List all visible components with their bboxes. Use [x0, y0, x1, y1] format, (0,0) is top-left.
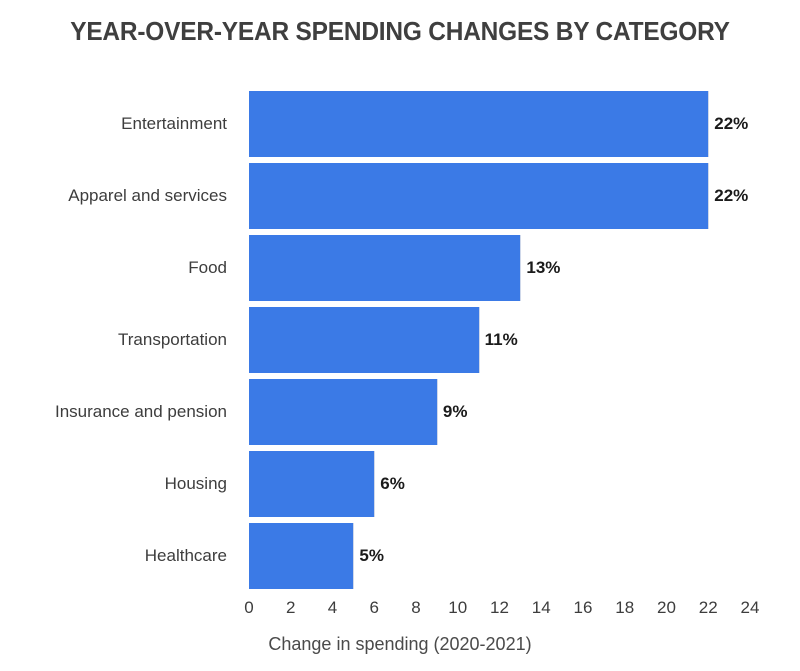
x-axis-tick-9: 18 [615, 598, 634, 618]
bar-value-3: 11% [485, 330, 518, 350]
y-axis-label-3: Transportation [0, 304, 238, 376]
bar-value-6: 5% [359, 546, 384, 566]
bar-4[interactable] [249, 379, 438, 445]
bar-chart: YEAR-OVER-YEAR SPENDING CHANGES BY CATEG… [0, 0, 800, 671]
bar-band-3: 11% [249, 304, 750, 376]
x-axis-tick-0: 0 [244, 598, 253, 618]
y-axis-label-5: Housing [0, 448, 238, 520]
y-axis-label-2: Food [0, 232, 238, 304]
bar-value-2: 13% [526, 258, 560, 278]
plot-area: 22% 22% 13% 11% 9% 6% 5% [249, 88, 750, 592]
x-axis-tick-5: 10 [448, 598, 467, 618]
x-axis-tick-12: 24 [741, 598, 760, 618]
x-axis-tick-7: 14 [532, 598, 551, 618]
bar-band-1: 22% [249, 160, 750, 232]
bar-value-0: 22% [714, 114, 748, 134]
x-axis-tick-4: 8 [411, 598, 420, 618]
bar-value-1: 22% [714, 186, 748, 206]
x-axis-tick-10: 20 [657, 598, 676, 618]
x-axis-title: Change in spending (2020-2021) [0, 634, 800, 655]
y-axis-label-4: Insurance and pension [0, 376, 238, 448]
y-axis-category-labels: Entertainment Apparel and services Food … [0, 88, 238, 592]
bar-band-0: 22% [249, 88, 750, 160]
y-axis-label-1: Apparel and services [0, 160, 238, 232]
bar-value-4: 9% [443, 402, 468, 422]
x-axis-tick-6: 12 [490, 598, 509, 618]
x-axis-tick-1: 2 [286, 598, 295, 618]
bar-3[interactable] [249, 307, 480, 373]
chart-title: YEAR-OVER-YEAR SPENDING CHANGES BY CATEG… [24, 16, 776, 47]
bar-band-2: 13% [249, 232, 750, 304]
y-axis-label-0: Entertainment [0, 88, 238, 160]
x-axis-tick-11: 22 [699, 598, 718, 618]
x-axis-tick-3: 6 [370, 598, 379, 618]
bar-0[interactable] [249, 91, 709, 157]
x-axis-tick-8: 16 [574, 598, 593, 618]
bar-value-5: 6% [380, 474, 405, 494]
bar-5[interactable] [249, 451, 375, 517]
bar-6[interactable] [249, 523, 354, 589]
x-axis-ticks: 024681012141618202224 [249, 598, 750, 622]
bar-2[interactable] [249, 235, 521, 301]
y-axis-label-6: Healthcare [0, 520, 238, 592]
x-axis-tick-2: 4 [328, 598, 337, 618]
bar-1[interactable] [249, 163, 709, 229]
bar-band-6: 5% [249, 520, 750, 592]
bar-band-5: 6% [249, 448, 750, 520]
bar-band-4: 9% [249, 376, 750, 448]
